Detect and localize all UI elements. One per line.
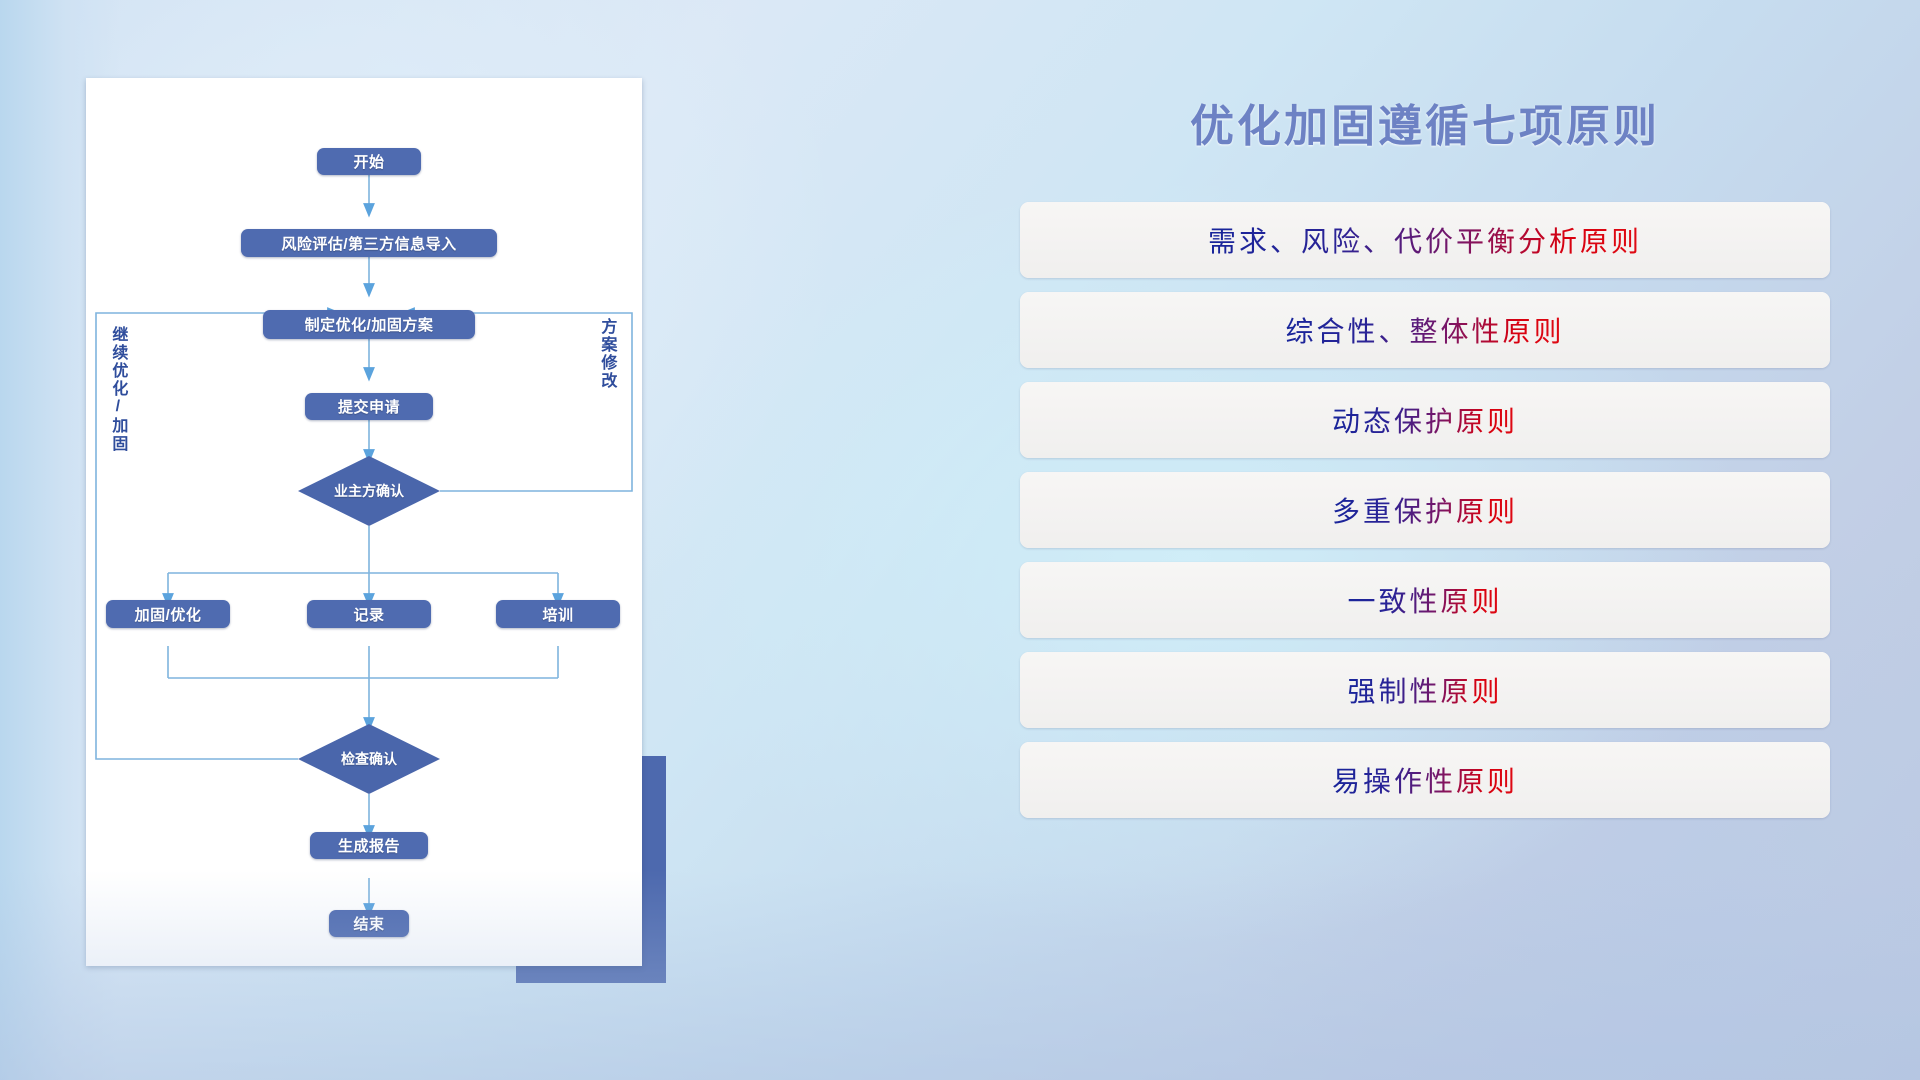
node-start[interactable]: 开始 [317,148,421,175]
decision-owner-confirm [298,456,440,526]
principle-item[interactable]: 强制性原则 [1020,652,1830,728]
principles-list: 需求、风险、代价平衡分析原则 综合性、整体性原则 动态保护原则 多重保护原则 [1020,202,1830,832]
node-make-plan[interactable]: 制定优化/加固方案 [263,310,475,339]
principle-item[interactable]: 动态保护原则 [1020,382,1830,458]
principle-item[interactable]: 综合性、整体性原则 [1020,292,1830,368]
edge-label-continue-optimize: 继续优化/加固 [109,326,125,453]
principles-title: 优化加固遵循七项原则 [1020,90,1830,154]
node-reinforce-optimize[interactable]: 加固/优化 [106,600,230,628]
principle-label: 综合性、整体性原则 [1285,310,1564,350]
flowchart-card-wrapper: 业主方确认 检查确认 开始 风险评估/第三方信息导入 制定优化/加固方案 提交申… [86,78,666,983]
principle-label: 易操作性原则 [1332,760,1518,800]
principle-label: 强制性原则 [1347,670,1502,710]
principle-label: 多重保护原则 [1332,490,1518,530]
node-training[interactable]: 培训 [496,600,620,628]
node-generate-report[interactable]: 生成报告 [310,832,428,859]
principle-item-surface: 多重保护原则 [1020,472,1830,548]
edge-label-plan-revision: 方案修改 [598,318,614,390]
principle-label: 一致性原则 [1347,580,1502,620]
principle-item[interactable]: 多重保护原则 [1020,472,1830,548]
principle-item-surface: 一致性原则 [1020,562,1830,638]
principle-item-surface: 综合性、整体性原则 [1020,292,1830,368]
principle-item-surface: 易操作性原则 [1020,742,1830,818]
principle-item[interactable]: 易操作性原则 [1020,742,1830,818]
node-record[interactable]: 记录 [307,600,431,628]
node-end[interactable]: 结束 [329,910,409,937]
slide-background: 业主方确认 检查确认 开始 风险评估/第三方信息导入 制定优化/加固方案 提交申… [0,0,1920,1080]
flowchart-card: 业主方确认 检查确认 开始 风险评估/第三方信息导入 制定优化/加固方案 提交申… [86,78,642,966]
principle-label: 需求、风险、代价平衡分析原则 [1208,220,1642,260]
principle-item-surface: 动态保护原则 [1020,382,1830,458]
node-submit-application[interactable]: 提交申请 [305,393,433,420]
principle-item-surface: 需求、风险、代价平衡分析原则 [1020,202,1830,278]
principle-item[interactable]: 需求、风险、代价平衡分析原则 [1020,202,1830,278]
principle-item[interactable]: 一致性原则 [1020,562,1830,638]
principle-item-surface: 强制性原则 [1020,652,1830,728]
decision-final-check [298,724,440,794]
principles-panel: 优化加固遵循七项原则 需求、风险、代价平衡分析原则 综合性、整体性原则 动态保护… [1020,90,1830,1020]
node-risk-assessment[interactable]: 风险评估/第三方信息导入 [241,229,497,257]
principle-label: 动态保护原则 [1332,400,1518,440]
